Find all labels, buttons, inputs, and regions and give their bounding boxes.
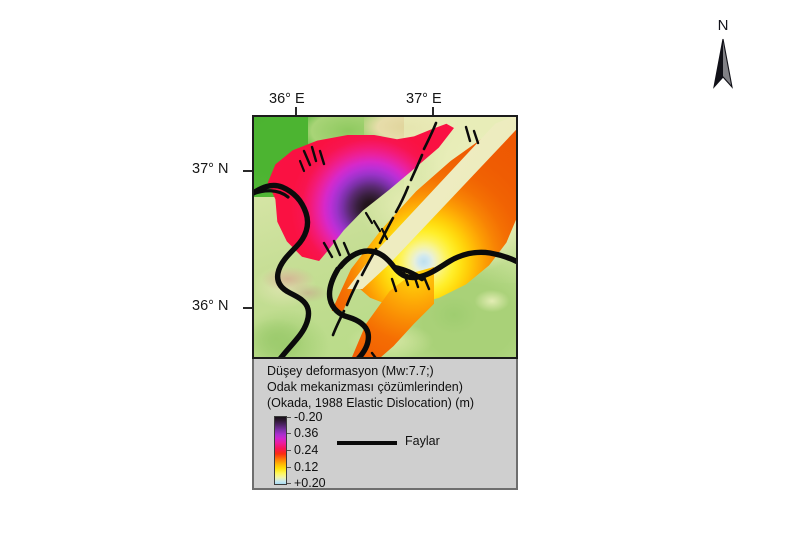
colorbar-tick-2 [287,450,291,451]
legend-content: Düşey deformasyon (Mw:7.7;) Odak mekaniz… [259,364,511,483]
legend-title-line-3: (Okada, 1988 Elastic Dislocation) (m) [267,396,474,410]
y-tick-label-37n: 37° N [192,161,228,177]
map-panel[interactable] [252,115,518,359]
colorbar [274,416,287,485]
colorbar-tick-4 [287,483,291,484]
y-tick-label-36n: 36° N [192,298,228,314]
colorbar-label-0: -0.20 [294,410,323,424]
fault-lines-overlay [254,117,516,357]
legend-panel: Düşey deformasyon (Mw:7.7;) Odak mekaniz… [252,359,518,490]
colorbar-tick-0 [287,417,291,418]
north-arrow-label: N [703,18,743,34]
y-tick-mark-36n [243,307,252,309]
x-tick-label-36e: 36° E [269,91,305,107]
colorbar-tick-3 [287,467,291,468]
colorbar-tick-1 [287,433,291,434]
fault-key-swatch [337,441,397,445]
colorbar-label-4: +0.20 [294,476,326,490]
colorbar-label-1: 0.36 [294,426,318,440]
north-arrow: N [703,18,743,88]
map-canvas [254,117,516,357]
x-tick-label-37e: 37° E [406,91,442,107]
legend-title-line-1: Düşey deformasyon (Mw:7.7;) [267,364,434,378]
colorbar-label-2: 0.24 [294,443,318,457]
colorbar-label-3: 0.12 [294,460,318,474]
figure-body: Düşey deformasyon (Mw:7.7;) Odak mekaniz… [252,115,518,490]
north-arrow-icon [703,37,743,89]
figure-root: N 36° E 37° E 37° N 36° N [0,0,800,533]
y-tick-mark-37n [243,170,252,172]
legend-title-line-2: Odak mekanizması çözümlerinden) [267,380,463,394]
fault-key-label: Faylar [405,434,440,448]
